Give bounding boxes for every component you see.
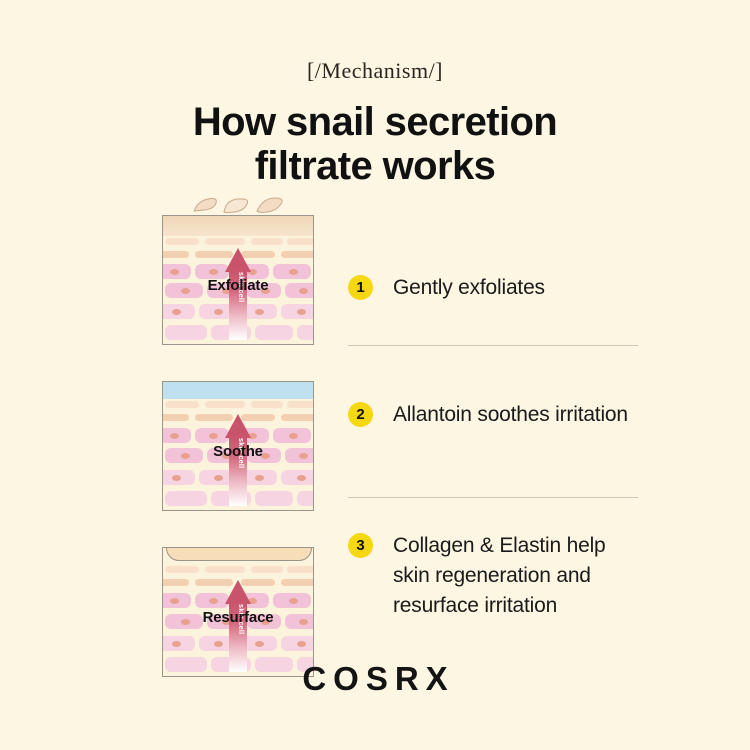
arrow-head-icon: [225, 248, 251, 272]
page-title-line-1: How snail secretion: [0, 100, 750, 144]
panel-label-exfoliate: Exfoliate: [163, 277, 313, 294]
skin-diagram-column: skin cell Exfoliate: [162, 205, 314, 677]
list-item-text-1: Gently exfoliates: [393, 273, 545, 303]
list-divider-2: [348, 497, 638, 498]
panel-slot-exfoliate: skin cell Exfoliate: [162, 205, 314, 345]
page-title: How snail secretion filtrate works: [0, 100, 750, 188]
list-item-slot-1: 1 Gently exfoliates: [348, 205, 638, 345]
panel-label-soothe: Soothe: [163, 443, 313, 460]
panel-slot-resurface: skin cell Resurface: [162, 537, 314, 677]
list-item-text-2: Allantoin soothes irritation: [393, 400, 628, 430]
list-item: 3 Collagen & Elastin help skin regenerat…: [348, 531, 638, 621]
list-item-text-3: Collagen & Elastin help skin regeneratio…: [393, 531, 638, 621]
infographic-root: [/Mechanism/] How snail secretion filtra…: [0, 0, 750, 750]
list-item-slot-3: 3 Collagen & Elastin help skin regenerat…: [348, 501, 638, 621]
arrow-head-icon: [225, 414, 251, 438]
panel-slot-soothe: skin cell Soothe: [162, 371, 314, 511]
step-badge-2: 2: [348, 402, 373, 427]
step-badge-1: 1: [348, 275, 373, 300]
skin-flakes-icon: [162, 183, 314, 213]
skin-panel-exfoliate: skin cell Exfoliate: [162, 215, 314, 345]
benefits-list: 1 Gently exfoliates 2 Allantoin soothes …: [348, 205, 638, 621]
list-item: 1 Gently exfoliates: [348, 273, 545, 303]
skin-panel-resurface: skin cell Resurface: [162, 547, 314, 677]
page-title-line-2: filtrate works: [0, 144, 750, 188]
panel-label-resurface: Resurface: [163, 609, 313, 626]
list-item: 2 Allantoin soothes irritation: [348, 400, 628, 430]
list-item-slot-2: 2 Allantoin soothes irritation: [348, 345, 638, 501]
arrow-head-icon: [225, 580, 251, 604]
brand-logo: COSRX: [0, 660, 750, 698]
skin-panel-soothe: skin cell Soothe: [162, 381, 314, 511]
eyebrow-label: [/Mechanism/]: [0, 58, 750, 84]
step-badge-3: 3: [348, 533, 373, 558]
